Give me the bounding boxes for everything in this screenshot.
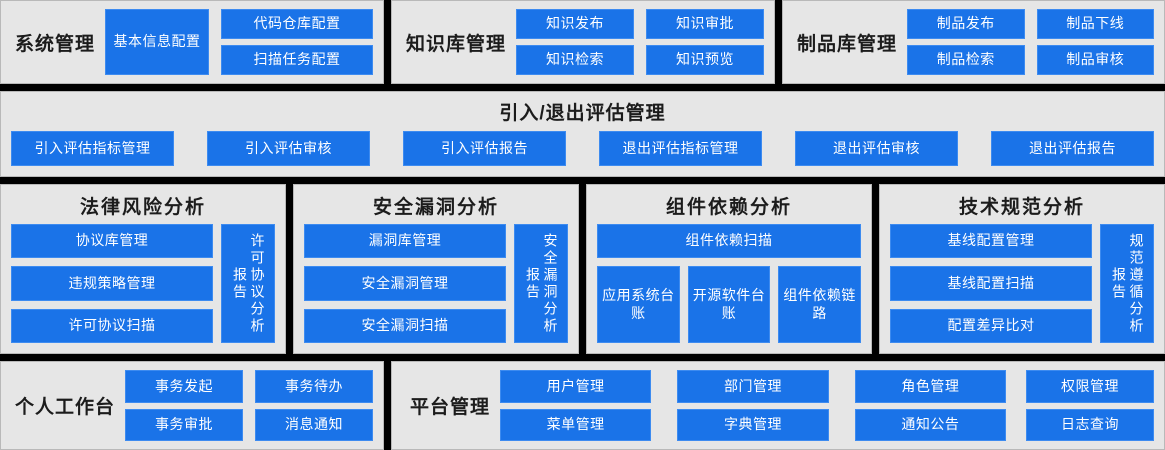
panel-artifact-repo-management: 制品库管理 制品发布 制品下线 制品检索 制品审核 [782, 0, 1165, 84]
button-knowledge-approve[interactable]: 知识审批 [646, 9, 764, 39]
button-exit-eval-report[interactable]: 退出评估报告 [991, 131, 1154, 166]
technical-specification-body: 基线配置管理 基线配置扫描 配置差异比对 规范遵循分析报告 [880, 224, 1164, 353]
panel-security-vulnerability-analysis: 安全漏洞分析 漏洞库管理 安全漏洞管理 安全漏洞扫描 安全漏洞分析报告 [293, 184, 579, 354]
panel-system-management: 系统管理 基本信息配置 代码仓库配置 扫描任务配置 [0, 0, 384, 84]
button-component-dependency-chain[interactable]: 组件依赖链路 [778, 266, 861, 343]
row-analysis: 法律风险分析 协议库管理 违规策略管理 许可协议扫描 许可协议分析报告 安全漏洞… [0, 184, 1165, 354]
button-baseline-config-mgmt[interactable]: 基线配置管理 [890, 224, 1092, 258]
panel-title-legal-risk-analysis: 法律风险分析 [1, 185, 285, 224]
button-security-vulnerability-mgmt[interactable]: 安全漏洞管理 [304, 266, 506, 300]
panel-title-system-management: 系统管理 [1, 29, 105, 56]
panel-title-artifact-repo-management: 制品库管理 [783, 29, 907, 56]
panel-legal-risk-analysis: 法律风险分析 协议库管理 违规策略管理 许可协议扫描 许可协议分析报告 [0, 184, 286, 354]
button-dictionary-management[interactable]: 字典管理 [677, 409, 828, 442]
button-security-vulnerability-scan[interactable]: 安全漏洞扫描 [304, 309, 506, 343]
personal-workbench-buttons: 事务发起 事务待办 事务审批 消息通知 [125, 362, 383, 449]
button-task-initiate[interactable]: 事务发起 [125, 370, 243, 403]
button-permission-management[interactable]: 权限管理 [1026, 370, 1154, 403]
button-security-vulnerability-report[interactable]: 安全漏洞分析报告 [514, 224, 568, 343]
button-license-analysis-report[interactable]: 许可协议分析报告 [221, 224, 275, 343]
security-vulnerability-buttons: 漏洞库管理 安全漏洞管理 安全漏洞扫描 [304, 224, 506, 343]
legal-risk-buttons: 协议库管理 违规策略管理 许可协议扫描 [11, 224, 213, 343]
button-vulnerability-library-mgmt[interactable]: 漏洞库管理 [304, 224, 506, 258]
panel-intro-exit-evaluation: 引入/退出评估管理 引入评估指标管理 引入评估审核 引入评估报告 退出评估指标管… [0, 91, 1165, 177]
button-artifact-audit[interactable]: 制品审核 [1037, 45, 1155, 75]
security-vulnerability-body: 漏洞库管理 安全漏洞管理 安全漏洞扫描 安全漏洞分析报告 [294, 224, 578, 353]
panel-title-platform-management: 平台管理 [392, 392, 500, 419]
row-bottom: 个人工作台 事务发起 事务待办 事务审批 消息通知 平台管理 用户管理 部门管理… [0, 361, 1165, 450]
panel-knowledge-base-management: 知识库管理 知识发布 知识审批 知识检索 知识预览 [391, 0, 775, 84]
panel-technical-specification-analysis: 技术规范分析 基线配置管理 基线配置扫描 配置差异比对 规范遵循分析报告 [879, 184, 1165, 354]
button-app-system-ledger[interactable]: 应用系统台账 [597, 266, 680, 343]
button-role-management[interactable]: 角色管理 [855, 370, 1006, 403]
button-scan-task-config[interactable]: 扫描任务配置 [221, 45, 373, 75]
button-exit-eval-indicator-mgmt[interactable]: 退出评估指标管理 [599, 131, 762, 166]
button-log-query[interactable]: 日志查询 [1026, 409, 1154, 442]
button-license-agreement-scan[interactable]: 许可协议扫描 [11, 309, 213, 343]
button-intro-eval-report[interactable]: 引入评估报告 [403, 131, 566, 166]
button-violation-policy-mgmt[interactable]: 违规策略管理 [11, 266, 213, 300]
platform-management-buttons: 用户管理 部门管理 角色管理 菜单管理 字典管理 通知公告 [500, 362, 1016, 449]
evaluation-buttons: 引入评估指标管理 引入评估审核 引入评估报告 退出评估指标管理 退出评估审核 退… [1, 125, 1164, 176]
panel-component-dependency-analysis: 组件依赖分析 组件依赖扫描 应用系统台账 开源软件台账 组件依赖链路 [586, 184, 872, 354]
button-menu-management[interactable]: 菜单管理 [500, 409, 651, 442]
button-config-difference-compare[interactable]: 配置差异比对 [890, 309, 1092, 343]
panel-title-personal-workbench: 个人工作台 [1, 392, 125, 419]
button-code-repo-config[interactable]: 代码仓库配置 [221, 9, 373, 39]
legal-risk-body: 协议库管理 违规策略管理 许可协议扫描 许可协议分析报告 [1, 224, 285, 353]
panel-title-knowledge-base-management: 知识库管理 [392, 29, 516, 56]
button-task-todo[interactable]: 事务待办 [255, 370, 373, 403]
button-knowledge-search[interactable]: 知识检索 [516, 45, 634, 75]
button-basic-info-config[interactable]: 基本信息配置 [105, 9, 209, 75]
button-component-dependency-scan[interactable]: 组件依赖扫描 [597, 224, 861, 258]
button-notice-announcement[interactable]: 通知公告 [855, 409, 1006, 442]
technical-specification-buttons: 基线配置管理 基线配置扫描 配置差异比对 [890, 224, 1092, 343]
button-knowledge-publish[interactable]: 知识发布 [516, 9, 634, 39]
panel-title-technical-specification-analysis: 技术规范分析 [880, 185, 1164, 224]
panel-title-security-vulnerability-analysis: 安全漏洞分析 [294, 185, 578, 224]
panel-personal-workbench: 个人工作台 事务发起 事务待办 事务审批 消息通知 [0, 361, 384, 450]
knowledge-base-buttons: 知识发布 知识审批 知识检索 知识预览 [516, 1, 774, 83]
button-message-notification[interactable]: 消息通知 [255, 409, 373, 442]
button-specification-compliance-report[interactable]: 规范遵循分析报告 [1100, 224, 1154, 343]
row-evaluation: 引入/退出评估管理 引入评估指标管理 引入评估审核 引入评估报告 退出评估指标管… [0, 91, 1165, 177]
button-artifact-offline[interactable]: 制品下线 [1037, 9, 1155, 39]
dashboard-root: 系统管理 基本信息配置 代码仓库配置 扫描任务配置 知识库管理 知识发布 知识审… [0, 0, 1165, 447]
button-license-library-mgmt[interactable]: 协议库管理 [11, 224, 213, 258]
button-exit-eval-review[interactable]: 退出评估审核 [795, 131, 958, 166]
panel-platform-management: 平台管理 用户管理 部门管理 角色管理 菜单管理 字典管理 通知公告 权限管理 … [391, 361, 1165, 450]
button-open-source-ledger[interactable]: 开源软件台账 [688, 266, 771, 343]
button-department-management[interactable]: 部门管理 [677, 370, 828, 403]
button-artifact-search[interactable]: 制品检索 [907, 45, 1024, 75]
button-artifact-publish[interactable]: 制品发布 [907, 9, 1024, 39]
button-user-management[interactable]: 用户管理 [500, 370, 651, 403]
panel-title-component-dependency-analysis: 组件依赖分析 [587, 185, 871, 224]
row-top: 系统管理 基本信息配置 代码仓库配置 扫描任务配置 知识库管理 知识发布 知识审… [0, 0, 1165, 84]
artifact-repo-buttons: 制品发布 制品下线 制品检索 制品审核 [907, 1, 1164, 83]
platform-management-right-buttons: 权限管理 日志查询 [1016, 362, 1164, 449]
button-knowledge-preview[interactable]: 知识预览 [646, 45, 764, 75]
component-dependency-body: 组件依赖扫描 应用系统台账 开源软件台账 组件依赖链路 [587, 224, 871, 353]
component-dependency-buttons: 应用系统台账 开源软件台账 组件依赖链路 [597, 266, 861, 343]
button-intro-eval-indicator-mgmt[interactable]: 引入评估指标管理 [11, 131, 174, 166]
panel-title-intro-exit-evaluation: 引入/退出评估管理 [1, 92, 1164, 125]
button-baseline-config-scan[interactable]: 基线配置扫描 [890, 266, 1092, 300]
button-intro-eval-review[interactable]: 引入评估审核 [207, 131, 370, 166]
button-task-approve[interactable]: 事务审批 [125, 409, 243, 442]
system-management-buttons: 基本信息配置 代码仓库配置 扫描任务配置 [105, 1, 383, 83]
